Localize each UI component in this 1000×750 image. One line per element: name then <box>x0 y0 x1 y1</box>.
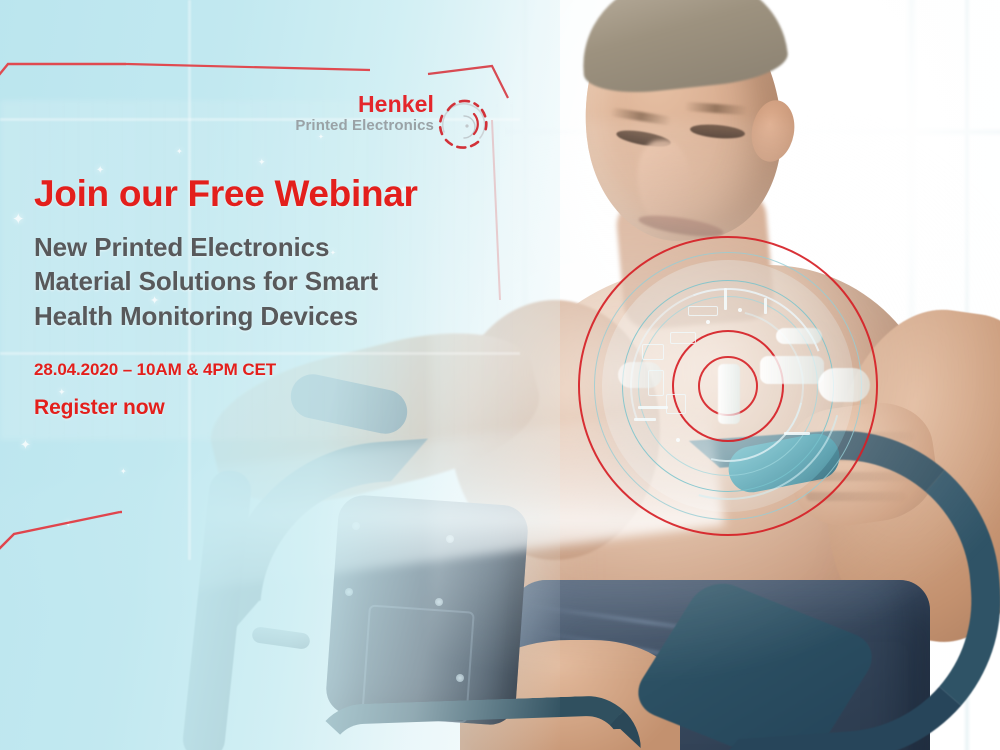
hud-tick <box>634 418 656 421</box>
hud-chip <box>666 394 686 414</box>
subheading-line-2: Material Solutions for Smart <box>34 264 464 298</box>
panel-grid-line <box>0 352 520 355</box>
sparkle-particle: ✦ <box>20 438 31 451</box>
page-title: Join our Free Webinar <box>34 174 504 213</box>
sparkle-particle: ✦ <box>120 468 127 476</box>
hud-tick <box>724 288 727 310</box>
hud-readout-bar <box>818 368 870 402</box>
hud-dot <box>676 438 680 442</box>
hud-dot <box>706 320 710 324</box>
hud-readout-bar <box>718 364 740 424</box>
sparkle-particle: ✦ <box>258 158 266 167</box>
hud-readout-bar <box>760 356 824 384</box>
subheading-line-3: Health Monitoring Devices <box>34 299 464 333</box>
brand-logo-text: Henkel Printed Electronics <box>284 92 434 134</box>
health-monitoring-hud-overlay <box>578 236 878 536</box>
subheading: New Printed Electronics Material Solutio… <box>34 230 464 333</box>
brand-name: Henkel <box>284 92 434 116</box>
hud-chip <box>642 344 664 360</box>
henkel-arc-mark-icon <box>434 90 496 156</box>
hud-tick <box>638 406 668 409</box>
hud-tick <box>784 432 810 435</box>
hud-readout-bar <box>618 362 662 388</box>
brand-division: Printed Electronics <box>284 117 434 134</box>
hud-dot <box>738 308 742 312</box>
subheading-line-1: New Printed Electronics <box>34 230 464 264</box>
hud-readout-bar <box>776 328 822 344</box>
sparkle-particle: ✦ <box>176 148 183 156</box>
sparkle-particle: ✦ <box>12 212 25 227</box>
register-now-link[interactable]: Register now <box>34 396 165 420</box>
brand-logo[interactable]: Henkel Printed Electronics <box>284 92 494 166</box>
hud-chip <box>688 306 718 316</box>
hud-tick <box>764 298 767 314</box>
sparkle-particle: ✦ <box>64 520 72 530</box>
hud-chip <box>670 332 696 344</box>
webinar-promo-banner: ✦ ✦ ✦ ✦ ✦ ✦ ✦ ✦ ✦ ✦ ✦ ✦ ✦ Henkel Printed… <box>0 0 1000 750</box>
event-datetime: 28.04.2020 – 10AM & 4PM CET <box>34 360 276 380</box>
